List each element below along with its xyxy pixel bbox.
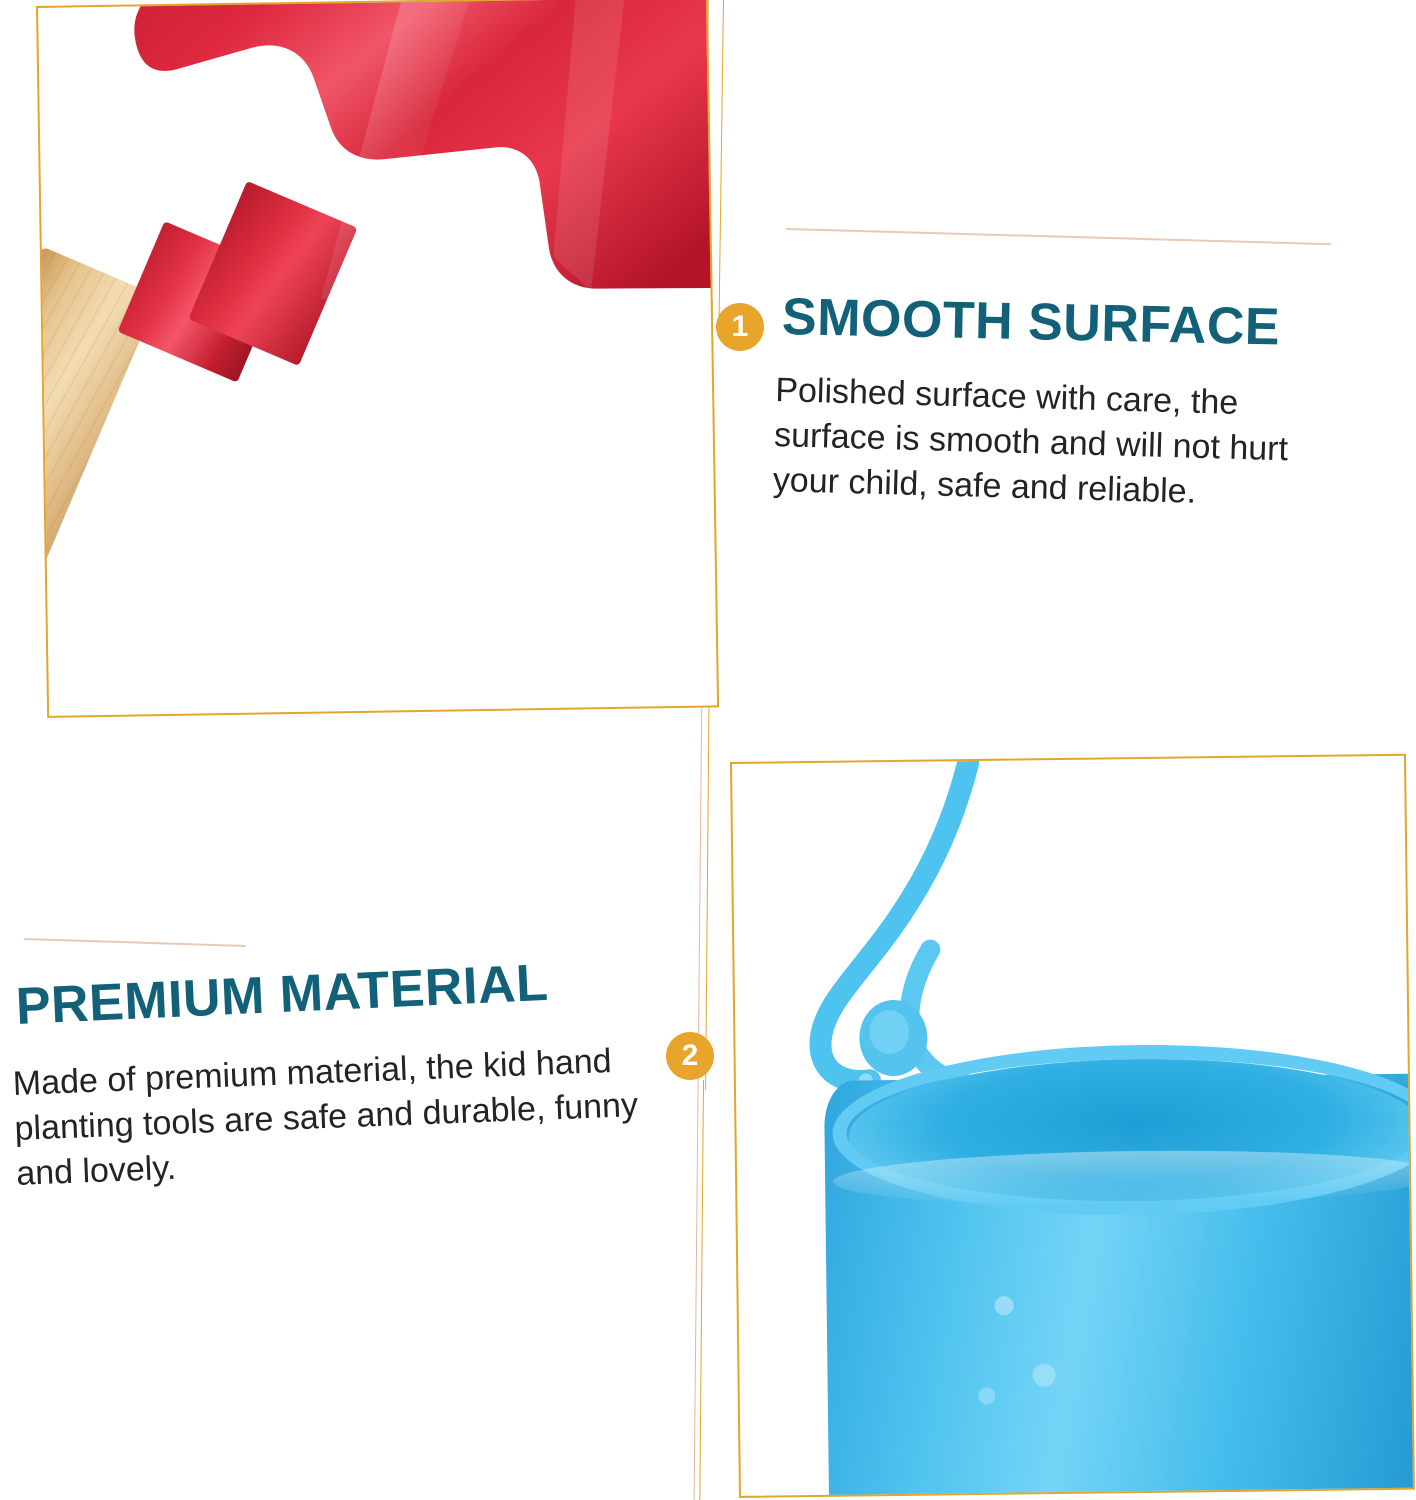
photo-red-shovel-frame (36, 0, 719, 718)
feature-1-description: Polished surface with care, the surface … (772, 368, 1348, 519)
feature-1-badge-number: 1 (732, 312, 749, 342)
infographic-page: 1 SMOOTH SURFACE Polished surface with c… (0, 0, 1416, 1500)
vertical-spine-line-gold (719, 0, 724, 320)
feature-2-description: Made of premium material, the kid hand p… (12, 1037, 677, 1197)
feature-2-rule (24, 938, 246, 947)
feature-1-rule (786, 228, 1331, 245)
feature-1-title: SMOOTH SURFACE (781, 290, 1280, 355)
blue-bucket-illustration (732, 756, 1413, 1496)
red-shovel-illustration (38, 0, 717, 716)
feature-2-badge: 2 (666, 1032, 714, 1080)
feature-block-1 (786, 228, 1346, 230)
vertical-spine-line-gold-bottom (699, 1080, 704, 1500)
photo-blue-bucket-frame (730, 754, 1415, 1498)
feature-2-title: PREMIUM MATERIAL (15, 956, 550, 1035)
feature-2-badge-number: 2 (682, 1041, 699, 1071)
feature-block-2 (24, 938, 254, 940)
feature-1-badge: 1 (716, 303, 764, 351)
red-shovel-blade (107, 0, 719, 418)
